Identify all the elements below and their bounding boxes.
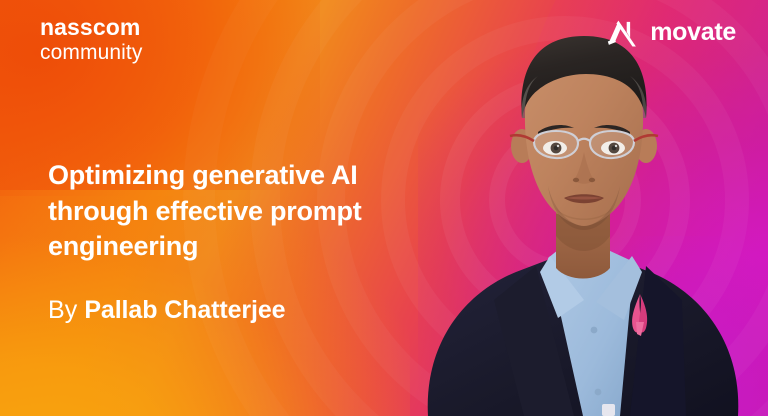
ear-left (511, 129, 533, 163)
violet-glow-decoration (528, 236, 768, 416)
stubble (548, 186, 620, 230)
speaker-portrait (398, 0, 768, 416)
shirt-collar-right (596, 256, 642, 320)
hair-grey-left (522, 76, 538, 118)
eye-white-left (543, 141, 567, 155)
eye-white-right (601, 141, 625, 155)
dress-shirt (548, 250, 634, 416)
article-hero-banner: nasscom community movate Optimizing gene… (0, 0, 768, 416)
shirt-collar-left (540, 256, 584, 318)
magenta-glow-decoration (418, 40, 768, 416)
suit-jacket (428, 256, 739, 416)
lapel-left (494, 266, 574, 416)
lapel-right (630, 266, 686, 416)
community-wordmark: community (40, 41, 142, 66)
movate-m-mark-icon (606, 16, 642, 49)
hair-grey-right (630, 76, 646, 118)
movate-wordmark: movate (650, 18, 736, 47)
eyebrow-right (594, 125, 630, 135)
byline: By Pallab Chatterjee (48, 295, 286, 325)
iris-left (551, 143, 562, 154)
ring-2 (440, 75, 690, 325)
movate-logo[interactable]: movate (606, 16, 736, 49)
ring-1 (489, 124, 641, 276)
neck (556, 212, 610, 279)
title-line-3: engineering (48, 229, 408, 265)
ring-3 (381, 16, 749, 384)
page-title: Optimizing generative AI through effecti… (48, 158, 408, 265)
eyeglasses-icon (510, 131, 658, 158)
nose (574, 152, 594, 184)
nasscom-community-logo[interactable]: nasscom community (40, 14, 142, 66)
pocket-detail (602, 404, 615, 416)
face (525, 44, 643, 226)
shirt-button-1 (591, 327, 598, 334)
ear-right (635, 129, 657, 163)
curved-sweep-decoration-right (518, 0, 768, 416)
mouth (564, 194, 604, 203)
nasscom-wordmark: nasscom (40, 14, 142, 41)
iris-right (609, 143, 620, 154)
shirt-button-2 (595, 389, 602, 396)
title-line-1: Optimizing generative AI (48, 158, 408, 194)
byline-author: Pallab Chatterjee (84, 296, 285, 324)
eyebrow-left (538, 125, 574, 135)
title-line-2: through effective prompt (48, 194, 408, 230)
byline-prefix: By (48, 296, 77, 324)
pink-awareness-ribbon-icon (632, 294, 647, 336)
